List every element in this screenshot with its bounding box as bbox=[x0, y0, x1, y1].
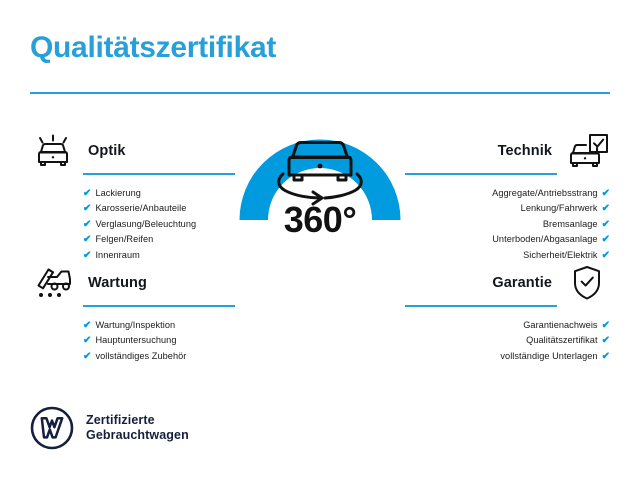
car-checkbox-icon bbox=[564, 131, 610, 171]
footer-line-2: Gebrauchtwagen bbox=[86, 428, 189, 443]
list-item: Bremsanlage✔ bbox=[405, 217, 610, 232]
check-icon: ✔ bbox=[83, 250, 91, 261]
list-item-label: Karosserie/Anbauteile bbox=[95, 203, 186, 213]
footer-brand: Zertifizierte Gebrauchtwagen bbox=[30, 406, 189, 450]
list-item-label: Sicherheit/Elektrik bbox=[523, 250, 597, 260]
certificate-page: Qualitätszertifikat Optik ✔ bbox=[0, 0, 640, 480]
page-title: Qualitätszertifikat bbox=[30, 33, 276, 63]
list-item: Sicherheit/Elektrik✔ bbox=[405, 248, 610, 263]
section-optik-divider bbox=[83, 173, 235, 175]
section-technik-title: Technik bbox=[405, 143, 564, 159]
list-item-label: Aggregate/Antriebsstrang bbox=[492, 188, 597, 198]
list-item-label: vollständige Unterlagen bbox=[500, 351, 597, 361]
list-item: ✔Hauptuntersuchung bbox=[83, 333, 235, 348]
check-icon: ✔ bbox=[602, 320, 610, 331]
list-item-label: Lenkung/Fahrwerk bbox=[521, 203, 598, 213]
section-garantie-header: Garantie bbox=[405, 262, 610, 304]
list-item: Lenkung/Fahrwerk✔ bbox=[405, 201, 610, 216]
list-item-label: Innenraum bbox=[95, 250, 139, 260]
list-item: Unterboden/Abgasanlage✔ bbox=[405, 232, 610, 247]
section-wartung-divider bbox=[83, 305, 235, 307]
check-icon: ✔ bbox=[83, 203, 91, 214]
car-service-pen-icon bbox=[30, 263, 76, 303]
list-item: ✔Lackierung bbox=[83, 186, 235, 201]
check-icon: ✔ bbox=[602, 203, 610, 214]
list-item-label: Garantienachweis bbox=[523, 320, 597, 330]
list-item: Qualitätszertifikat✔ bbox=[405, 333, 610, 348]
check-icon: ✔ bbox=[83, 351, 91, 362]
section-optik-title: Optik bbox=[76, 143, 235, 159]
list-item-label: Hauptuntersuchung bbox=[95, 335, 176, 345]
list-item: vollständige Unterlagen✔ bbox=[405, 349, 610, 364]
title-divider bbox=[30, 92, 610, 94]
check-icon: ✔ bbox=[83, 320, 91, 331]
section-garantie-divider bbox=[405, 305, 557, 307]
vw-logo-icon bbox=[30, 406, 74, 450]
section-optik: Optik ✔Lackierung ✔Karosserie/Anbauteile… bbox=[30, 130, 235, 263]
section-wartung-header: Wartung bbox=[30, 262, 235, 304]
list-item: ✔vollständiges Zubehör bbox=[83, 349, 235, 364]
list-item-label: Qualitätszertifikat bbox=[526, 335, 597, 345]
footer-text: Zertifizierte Gebrauchtwagen bbox=[86, 413, 189, 443]
section-wartung-list: ✔Wartung/Inspektion ✔Hauptuntersuchung ✔… bbox=[30, 318, 235, 364]
check-icon: ✔ bbox=[602, 335, 610, 346]
check-icon: ✔ bbox=[83, 234, 91, 245]
check-icon: ✔ bbox=[602, 351, 610, 362]
section-optik-list: ✔Lackierung ✔Karosserie/Anbauteile ✔Verg… bbox=[30, 186, 235, 263]
list-item-label: vollständiges Zubehör bbox=[95, 351, 186, 361]
footer-line-1: Zertifizierte bbox=[86, 413, 189, 428]
check-icon: ✔ bbox=[602, 250, 610, 261]
list-item: ✔Karosserie/Anbauteile bbox=[83, 201, 235, 216]
check-icon: ✔ bbox=[602, 188, 610, 199]
section-technik-divider bbox=[405, 173, 557, 175]
check-icon: ✔ bbox=[83, 188, 91, 199]
section-wartung-title: Wartung bbox=[76, 275, 235, 291]
list-item: ✔Wartung/Inspektion bbox=[83, 318, 235, 333]
section-wartung: Wartung ✔Wartung/Inspektion ✔Hauptunters… bbox=[30, 262, 235, 364]
list-item: ✔Innenraum bbox=[83, 248, 235, 263]
car-shine-icon bbox=[30, 131, 76, 171]
list-item-label: Wartung/Inspektion bbox=[95, 320, 175, 330]
check-icon: ✔ bbox=[602, 219, 610, 230]
section-garantie: Garantie Garantienachweis✔ Qualitätszert… bbox=[405, 262, 610, 364]
list-item: ✔Verglasung/Beleuchtung bbox=[83, 217, 235, 232]
section-technik-header: Technik bbox=[405, 130, 610, 172]
section-garantie-title: Garantie bbox=[405, 275, 564, 291]
check-icon: ✔ bbox=[83, 219, 91, 230]
list-item: ✔Felgen/Reifen bbox=[83, 232, 235, 247]
list-item-label: Verglasung/Beleuchtung bbox=[95, 219, 196, 229]
section-garantie-list: Garantienachweis✔ Qualitätszertifikat✔ v… bbox=[405, 318, 610, 364]
shield-check-icon bbox=[564, 263, 610, 303]
list-item-label: Lackierung bbox=[95, 188, 140, 198]
list-item: Aggregate/Antriebsstrang✔ bbox=[405, 186, 610, 201]
list-item: Garantienachweis✔ bbox=[405, 318, 610, 333]
check-icon: ✔ bbox=[83, 335, 91, 346]
badge-360-check: Gebrauchtwagen-Check 360° bbox=[227, 122, 413, 308]
badge-center-label: 360° bbox=[284, 199, 356, 240]
list-item-label: Bremsanlage bbox=[543, 219, 598, 229]
section-technik: Technik Aggregate/Antriebsstrang✔ Lenkun… bbox=[405, 130, 610, 263]
check-icon: ✔ bbox=[602, 234, 610, 245]
list-item-label: Felgen/Reifen bbox=[95, 234, 153, 244]
list-item-label: Unterboden/Abgasanlage bbox=[492, 234, 597, 244]
section-technik-list: Aggregate/Antriebsstrang✔ Lenkung/Fahrwe… bbox=[405, 186, 610, 263]
section-optik-header: Optik bbox=[30, 130, 235, 172]
